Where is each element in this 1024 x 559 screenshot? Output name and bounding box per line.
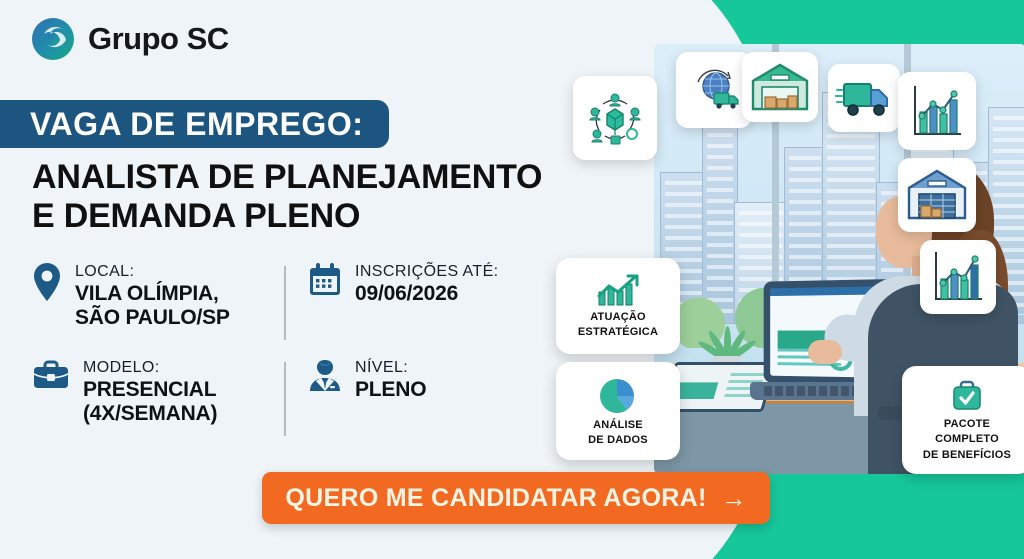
swirl-circle-logo bbox=[30, 16, 76, 62]
info-row-2: MODELO: PRESENCIAL (4X/SEMANA) bbox=[32, 358, 552, 436]
info-value-2: SÃO PAULO/SP bbox=[75, 306, 230, 330]
info-row-1: LOCAL: VILA OLÍMPIA, SÃO PAULO/SP bbox=[32, 262, 552, 340]
arrow-right-icon: → bbox=[721, 485, 747, 511]
badge-atuacao-estrategica: ATUAÇÃO ESTRATÉGICA bbox=[556, 258, 680, 354]
warehouse-blue-icon bbox=[898, 158, 976, 232]
badge-line1: ATUAÇÃO bbox=[590, 311, 646, 323]
warehouse-green-icon bbox=[742, 52, 818, 122]
title-line-1: ANALISTA DE PLANEJAMENTO bbox=[32, 158, 592, 197]
pie-chart-icon bbox=[597, 376, 639, 416]
brand-logo: Grupo SC bbox=[30, 16, 229, 62]
badge-line1: PACOTE bbox=[944, 418, 990, 430]
info-local: LOCAL: VILA OLÍMPIA, SÃO PAULO/SP bbox=[32, 262, 284, 330]
ribbon-text: VAGA DE EMPREGO: bbox=[30, 106, 363, 143]
info-label: MODELO: bbox=[83, 358, 217, 378]
delivery-truck-icon bbox=[828, 64, 900, 132]
briefcase-check-icon bbox=[947, 379, 987, 415]
info-nivel: NÍVEL: PLENO bbox=[308, 358, 426, 402]
info-value-1: PRESENCIAL bbox=[83, 378, 217, 402]
info-value-2: (4X/SEMANA) bbox=[83, 402, 217, 426]
column-divider bbox=[284, 266, 286, 340]
info-value-1: VILA OLÍMPIA, bbox=[75, 282, 230, 306]
info-modelo: MODELO: PRESENCIAL (4X/SEMANA) bbox=[32, 358, 284, 426]
supply-network-box-icon bbox=[573, 76, 657, 160]
page-title: ANALISTA DE PLANEJAMENTO E DEMANDA PLENO bbox=[32, 158, 592, 237]
info-value-1: 09/06/2026 bbox=[355, 282, 499, 306]
calendar-icon bbox=[308, 262, 342, 303]
info-label: NÍVEL: bbox=[355, 358, 426, 378]
person-suit-icon bbox=[308, 358, 342, 399]
cta-label: QUERO ME CANDIDATAR AGORA! bbox=[285, 484, 706, 513]
apply-now-button[interactable]: QUERO ME CANDIDATAR AGORA! → bbox=[262, 472, 770, 524]
job-ad-banner: ATUAÇÃO ESTRATÉGICA ANÁLISE DE DADOS PAC… bbox=[0, 0, 1024, 559]
badge-line1: ANÁLISE bbox=[593, 419, 643, 431]
info-inscricoes: INSCRIÇÕES ATÉ: 09/06/2026 bbox=[308, 262, 499, 306]
globe-truck-icon bbox=[676, 52, 752, 128]
growth-chart-icon bbox=[595, 274, 641, 308]
badge-analise-de-dados: ANÁLISE DE DADOS bbox=[556, 362, 680, 460]
bar-line-chart-icon-2 bbox=[920, 240, 996, 314]
briefcase-icon bbox=[32, 358, 70, 397]
badge-line2: DE DADOS bbox=[588, 434, 648, 446]
bar-line-chart-icon bbox=[898, 72, 976, 150]
job-details: LOCAL: VILA OLÍMPIA, SÃO PAULO/SP bbox=[32, 262, 552, 454]
badge-pacote-beneficios: PACOTE COMPLETO DE BENEFÍCIOS bbox=[902, 366, 1024, 474]
location-pin-icon bbox=[32, 262, 62, 307]
badge-line2: COMPLETO bbox=[935, 433, 999, 445]
vaga-ribbon: VAGA DE EMPREGO: bbox=[0, 100, 389, 148]
info-value-1: PLENO bbox=[355, 378, 426, 402]
badge-line3: DE BENEFÍCIOS bbox=[923, 449, 1011, 461]
brand-name: Grupo SC bbox=[88, 21, 229, 57]
column-divider bbox=[284, 362, 286, 436]
badge-line2: ESTRATÉGICA bbox=[578, 326, 658, 338]
info-label: INSCRIÇÕES ATÉ: bbox=[355, 262, 499, 282]
title-line-2: E DEMANDA PLENO bbox=[32, 197, 592, 236]
info-label: LOCAL: bbox=[75, 262, 230, 282]
